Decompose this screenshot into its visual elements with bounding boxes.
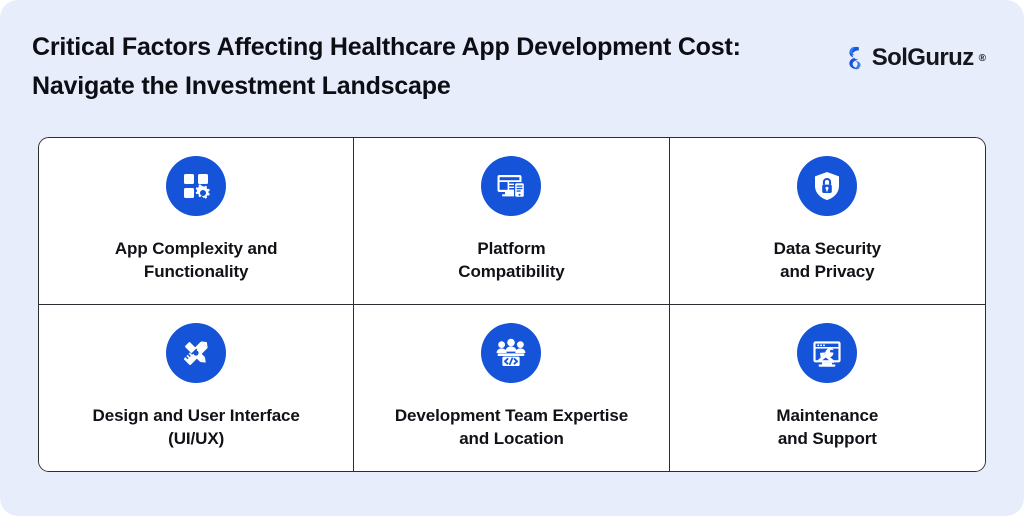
page-title: Critical Factors Affecting Healthcare Ap… bbox=[32, 28, 741, 106]
team-code-icon bbox=[481, 323, 541, 383]
factor-cell-platform-compatibility: Platform Compatibility bbox=[354, 138, 669, 305]
title-line-2: Navigate the Investment Landscape bbox=[32, 67, 741, 106]
factor-cell-app-complexity: App Complexity and Functionality bbox=[39, 138, 354, 305]
title-line-1: Critical Factors Affecting Healthcare Ap… bbox=[32, 28, 741, 67]
shield-lock-icon bbox=[797, 156, 857, 216]
factor-label-line-1: Data Security bbox=[774, 239, 881, 258]
factor-label-line-1: Maintenance bbox=[776, 406, 878, 425]
pencil-ruler-design-icon bbox=[166, 323, 226, 383]
desktop-mobile-devices-icon bbox=[481, 156, 541, 216]
factor-cell-development-team: Development Team Expertise and Location bbox=[354, 305, 669, 472]
brand-logo: SolGuruz ® bbox=[842, 44, 986, 72]
factor-label-line-1: Development Team Expertise bbox=[395, 406, 628, 425]
factor-label-line-1: Platform bbox=[477, 239, 545, 258]
brand-name: SolGuruz bbox=[872, 44, 974, 72]
poster-header: Critical Factors Affecting Healthcare Ap… bbox=[0, 0, 1024, 137]
factor-cell-maintenance-support: Maintenance and Support bbox=[670, 305, 985, 472]
factor-label: App Complexity and Functionality bbox=[115, 238, 278, 284]
factor-label-line-2: and Location bbox=[395, 428, 628, 451]
app-modules-gear-icon bbox=[166, 156, 226, 216]
factor-label-line-2: and Privacy bbox=[774, 261, 881, 284]
factor-label-line-2: and Support bbox=[776, 428, 878, 451]
factor-label-line-2: (UI/UX) bbox=[93, 428, 300, 451]
solguruz-swirl-logo-icon bbox=[842, 45, 868, 71]
factor-label-line-2: Functionality bbox=[115, 261, 278, 284]
factor-label: Design and User Interface (UI/UX) bbox=[93, 405, 300, 451]
factors-grid: App Complexity and Functionality bbox=[38, 137, 986, 472]
factor-label-line-1: Design and User Interface bbox=[93, 406, 300, 425]
browser-maintenance-tools-icon bbox=[797, 323, 857, 383]
factor-label: Development Team Expertise and Location bbox=[395, 405, 628, 451]
factor-cell-data-security: Data Security and Privacy bbox=[670, 138, 985, 305]
factor-label: Maintenance and Support bbox=[776, 405, 878, 451]
factor-cell-design-ui-ux: Design and User Interface (UI/UX) bbox=[39, 305, 354, 472]
factor-label: Data Security and Privacy bbox=[774, 238, 881, 284]
factor-label: Platform Compatibility bbox=[458, 238, 564, 284]
brand-trademark-symbol: ® bbox=[979, 53, 986, 64]
infographic-poster: Critical Factors Affecting Healthcare Ap… bbox=[0, 0, 1024, 516]
factor-label-line-1: App Complexity and bbox=[115, 239, 278, 258]
factor-label-line-2: Compatibility bbox=[458, 261, 564, 284]
